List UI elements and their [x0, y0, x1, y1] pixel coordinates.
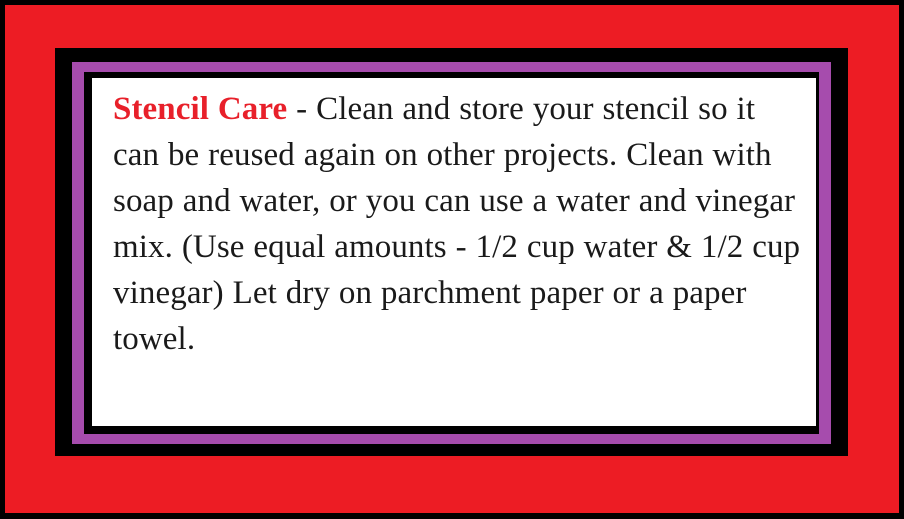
title-body-separator: - [287, 91, 316, 127]
stencil-care-body: Clean and store your stencil so it can b… [113, 91, 800, 357]
card-frame-outer-black: Stencil Care - Clean and store your sten… [0, 0, 904, 519]
stencil-care-title: Stencil Care [113, 91, 287, 127]
card-border-black-inner: Stencil Care - Clean and store your sten… [84, 72, 819, 434]
card-border-black-outer: Stencil Care - Clean and store your sten… [55, 48, 848, 456]
card-border-red: Stencil Care - Clean and store your sten… [5, 5, 899, 513]
stencil-care-paragraph: Stencil Care - Clean and store your sten… [113, 86, 804, 362]
card-content-sheet: Stencil Care - Clean and store your sten… [92, 78, 816, 426]
card-border-purple: Stencil Care - Clean and store your sten… [72, 62, 831, 444]
